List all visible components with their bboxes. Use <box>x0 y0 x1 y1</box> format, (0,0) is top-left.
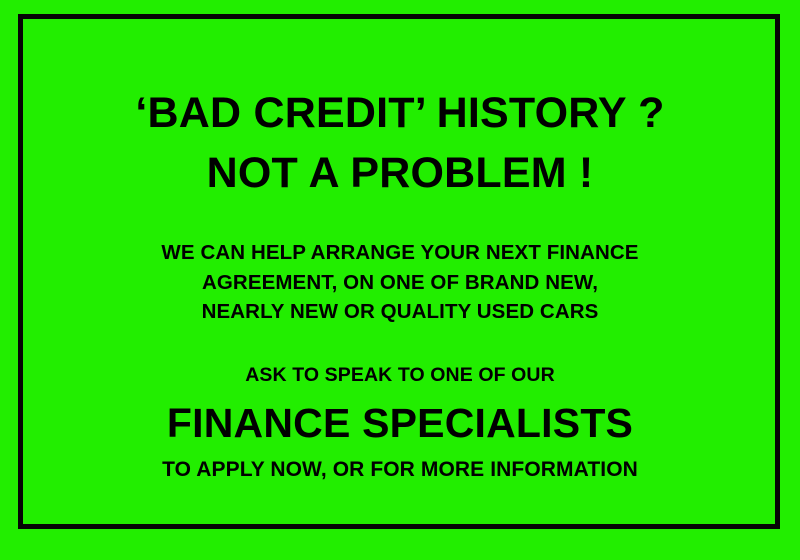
call-to-action-block: ASK TO SPEAK TO ONE OF OUR FINANCE SPECI… <box>0 363 800 483</box>
cta-headline-text: FINANCE SPECIALISTS <box>0 398 800 449</box>
poster-content: ‘BAD CREDIT’ HISTORY ? NOT A PROBLEM ! W… <box>0 0 800 560</box>
cta-footer-text: TO APPLY NOW, OR FOR MORE INFORMATION <box>0 456 800 483</box>
cta-lead-text: ASK TO SPEAK TO ONE OF OUR <box>0 363 800 388</box>
body-paragraph: WE CAN HELP ARRANGE YOUR NEXT FINANCE AG… <box>0 238 800 327</box>
advertisement-poster: ‘BAD CREDIT’ HISTORY ? NOT A PROBLEM ! W… <box>0 0 800 560</box>
headline-block: ‘BAD CREDIT’ HISTORY ? NOT A PROBLEM ! <box>0 86 800 202</box>
body-line-1: WE CAN HELP ARRANGE YOUR NEXT FINANCE <box>0 238 800 268</box>
headline-line-2: NOT A PROBLEM ! <box>0 146 800 202</box>
headline-line-1: ‘BAD CREDIT’ HISTORY ? <box>0 86 800 142</box>
body-line-3: NEARLY NEW OR QUALITY USED CARS <box>0 297 800 327</box>
body-line-2: AGREEMENT, ON ONE OF BRAND NEW, <box>0 268 800 298</box>
